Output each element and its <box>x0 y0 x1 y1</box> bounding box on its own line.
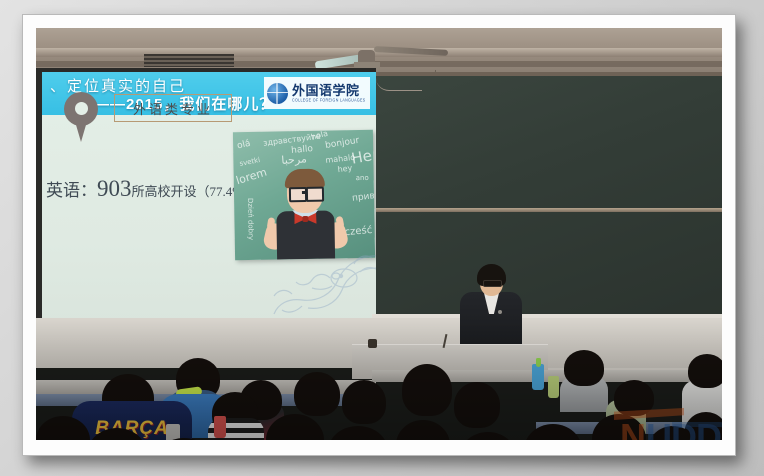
watermark-word: UDD <box>646 416 721 440</box>
blackboard-chalk-rail <box>372 208 722 212</box>
photo-mat: 、定位真实的自己 ——2015，我们在哪儿？ 外国语学院 COLLEGE OF … <box>22 14 736 456</box>
glasses-bridge <box>302 191 307 194</box>
blackboard-top-edge <box>372 72 722 76</box>
bottle-cap <box>536 358 541 367</box>
chalk-word: Dzień dobry <box>246 198 255 240</box>
wall-wire <box>376 78 422 91</box>
audience-head <box>564 350 604 386</box>
logo-name-en: COLLEGE OF FOREIGN LANGUAGES <box>292 99 366 103</box>
major-label-box: 外语类专业 <box>114 94 232 122</box>
map-pin-tail <box>74 118 88 142</box>
audience-head <box>396 420 450 440</box>
chalk-word: olá <box>236 139 251 152</box>
audience-head <box>342 380 386 424</box>
water-bottle <box>532 364 544 390</box>
chalk-word: svetki <box>239 156 261 168</box>
ceiling-vent <box>144 54 234 67</box>
statistic-line: 英语：903所高校开设（77.4%） <box>46 176 256 202</box>
logo-name-cn: 外国语学院 <box>292 84 366 97</box>
globe-icon <box>267 83 288 104</box>
audience-head <box>460 432 516 440</box>
map-pin-hole <box>75 102 88 115</box>
audience-head <box>294 372 340 416</box>
stat-subject: 英语： <box>46 181 97 200</box>
presentation-slide: 、定位真实的自己 ——2015，我们在哪儿？ 外国语学院 COLLEGE OF … <box>42 72 376 354</box>
slide-photo-boy: olá здравствуйте hallo bonjour hola lore… <box>233 130 375 260</box>
watermark: N UDD NEWS <box>620 406 722 440</box>
chalk-word: hey <box>337 163 353 174</box>
audience-head <box>402 364 452 416</box>
podium-object <box>368 339 377 348</box>
boy-hair <box>285 169 325 189</box>
audience-head <box>454 382 500 428</box>
stat-unit: 所高校开设 <box>132 184 197 199</box>
photograph: 、定位真实的自己 ——2015，我们在哪儿？ 外国语学院 COLLEGE OF … <box>36 28 722 440</box>
chalk-word: cześć <box>344 225 372 238</box>
speaker-button <box>498 310 502 314</box>
chalk-word: lorem <box>234 166 268 188</box>
glasses-left-lens <box>289 187 307 202</box>
chalk-word: مرحبا <box>281 152 307 167</box>
water-bottle <box>214 416 226 438</box>
glasses-right-lens <box>306 187 324 202</box>
watermark-letter: N <box>620 416 646 440</box>
audience-head <box>688 354 722 388</box>
speaker-glasses <box>483 280 502 287</box>
water-bottle <box>548 376 559 398</box>
college-logo: 外国语学院 COLLEGE OF FOREIGN LANGUAGES <box>264 77 370 109</box>
logo-text: 外国语学院 COLLEGE OF FOREIGN LANGUAGES <box>292 84 366 103</box>
chalk-word: He <box>350 146 373 167</box>
stat-number: 903 <box>97 176 132 201</box>
chalk-word: привет <box>352 190 376 204</box>
bow-tie-knot <box>302 216 308 222</box>
audience-head <box>328 426 388 440</box>
photo-stage: 、定位真实的自己 ——2015，我们在哪儿？ 外国语学院 COLLEGE OF … <box>0 0 764 476</box>
blackboard <box>372 72 722 320</box>
thumb-up-right <box>335 216 344 229</box>
chalk-word: ano <box>356 174 369 182</box>
